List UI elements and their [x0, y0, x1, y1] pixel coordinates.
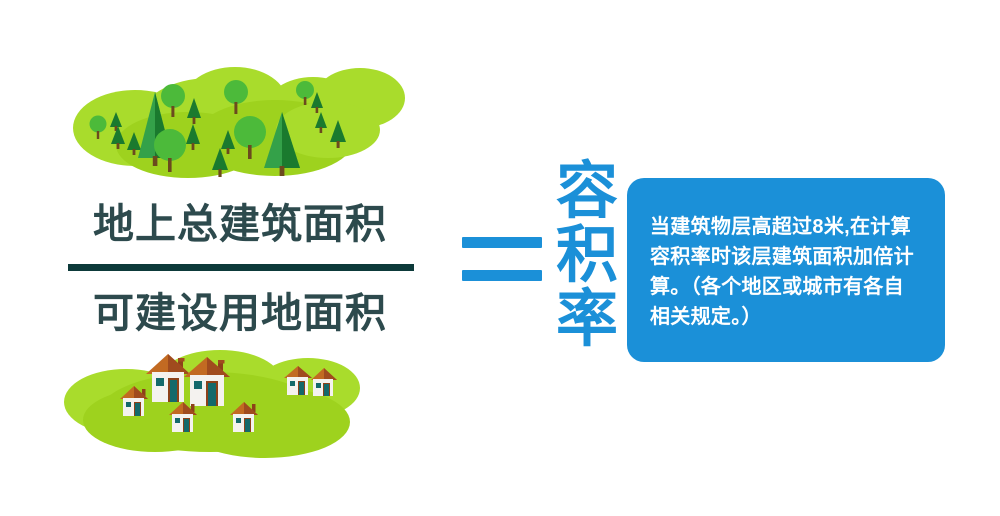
equals-sign: [462, 237, 542, 281]
numerator-label: 地上总建筑面积: [60, 204, 420, 245]
page-title-char-3: 率: [551, 288, 623, 352]
house-large: [146, 354, 190, 402]
formula-block: 地上总建筑面积 可建设用地面积: [60, 40, 420, 470]
fraction-bar: [68, 264, 414, 271]
note-callout: 当建筑物层高超过8米,在计算容积率时该层建筑面积加倍计算。（各个地区或城市有各自…: [627, 178, 945, 362]
page-title-char-2: 积: [551, 224, 623, 288]
note-text: 当建筑物层高超过8米,在计算容积率时该层建筑面积加倍计算。（各个地区或城市有各自…: [650, 212, 923, 332]
forest-land-illustration: [60, 50, 420, 180]
infographic-canvas: 地上总建筑面积 可建设用地面积: [0, 0, 1000, 516]
page-title: 容 积 率: [551, 160, 623, 352]
denominator-label: 可建设用地面积: [60, 293, 420, 334]
equals-bar-bottom: [462, 270, 542, 281]
houses-land-illustration: [60, 340, 420, 470]
page-title-char-1: 容: [551, 160, 623, 224]
equals-bar-top: [462, 237, 542, 248]
